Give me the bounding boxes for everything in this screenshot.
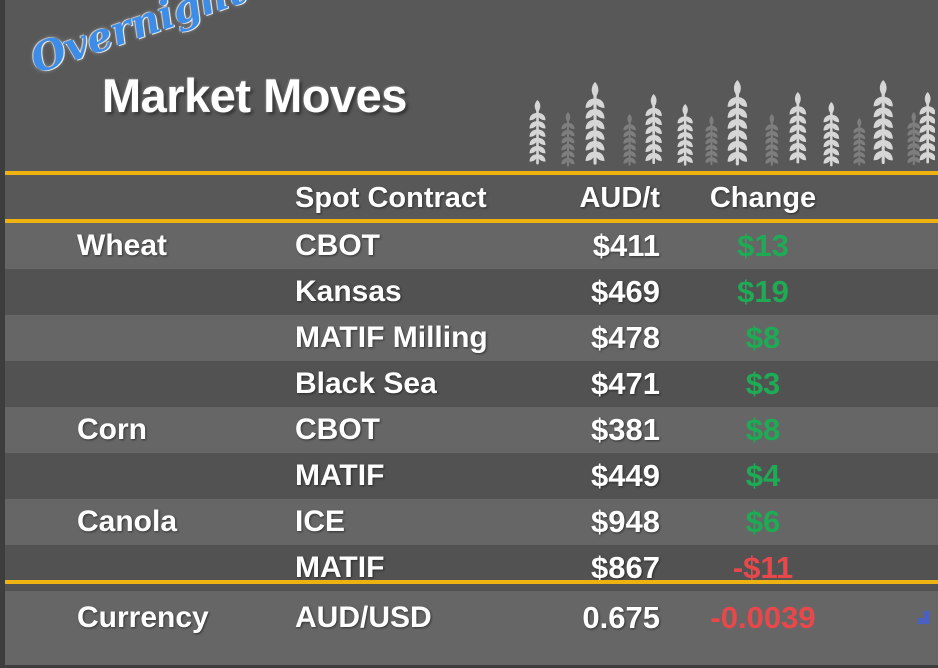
table-row[interactable]: Wheat CBOT $411 $13 <box>5 223 938 269</box>
header-banner: Market Moves Overnight <box>0 0 938 171</box>
rule-above-currency <box>5 580 938 584</box>
column-header-change: Change <box>677 175 849 221</box>
page-title: Market Moves <box>102 72 407 119</box>
cell-change: -$11 <box>677 545 849 591</box>
cell-group: Currency <box>77 595 287 641</box>
cell-price: $867 <box>495 545 660 591</box>
rule-below-header <box>5 219 938 223</box>
cell-change: $8 <box>677 407 849 453</box>
column-header-price: AUD/t <box>495 175 660 221</box>
table-header-row: Spot Contract AUD/t Change <box>5 175 938 221</box>
wheat-decoration <box>515 74 935 168</box>
wheat-stalk-icon-group <box>515 74 935 168</box>
cell-change: $4 <box>677 453 849 499</box>
cell-price: $449 <box>495 453 660 499</box>
table-row[interactable]: Canola ICE $948 $6 <box>5 499 938 545</box>
table-row[interactable]: MATIF $449 $4 <box>5 453 938 499</box>
table-row-currency[interactable]: Currency AUD/USD 0.675 -0.0039 <box>5 595 938 668</box>
table-row[interactable]: MATIF $867 -$11 <box>5 545 938 591</box>
table-row[interactable]: Kansas $469 $19 <box>5 269 938 315</box>
cell-price: 0.675 <box>495 595 660 641</box>
cell-change: $19 <box>677 269 849 315</box>
cell-price: $471 <box>495 361 660 407</box>
table-row[interactable]: MATIF Milling $478 $8 <box>5 315 938 361</box>
cell-group <box>77 315 287 361</box>
cell-change: $6 <box>677 499 849 545</box>
cell-price: $469 <box>495 269 660 315</box>
cell-group: Wheat <box>77 223 287 269</box>
left-border-strip <box>0 0 5 668</box>
cell-group <box>77 361 287 407</box>
cell-price: $948 <box>495 499 660 545</box>
rule-above-header <box>5 171 938 175</box>
cell-group <box>77 269 287 315</box>
table-row[interactable]: Black Sea $471 $3 <box>5 361 938 407</box>
market-moves-card: Market Moves Overnight <box>0 0 938 668</box>
bar-chart-logo-fragment-icon <box>918 611 930 624</box>
cell-change: $3 <box>677 361 849 407</box>
cell-group <box>77 545 287 591</box>
cell-change: $13 <box>677 223 849 269</box>
cell-price: $411 <box>495 223 660 269</box>
cell-price: $478 <box>495 315 660 361</box>
table-row[interactable]: Corn CBOT $381 $8 <box>5 407 938 453</box>
cell-price: $381 <box>495 407 660 453</box>
column-header-group <box>77 175 287 221</box>
cell-group: Canola <box>77 499 287 545</box>
cell-group: Corn <box>77 407 287 453</box>
cell-change: $8 <box>677 315 849 361</box>
cell-group <box>77 453 287 499</box>
cell-change: -0.0039 <box>677 595 849 641</box>
